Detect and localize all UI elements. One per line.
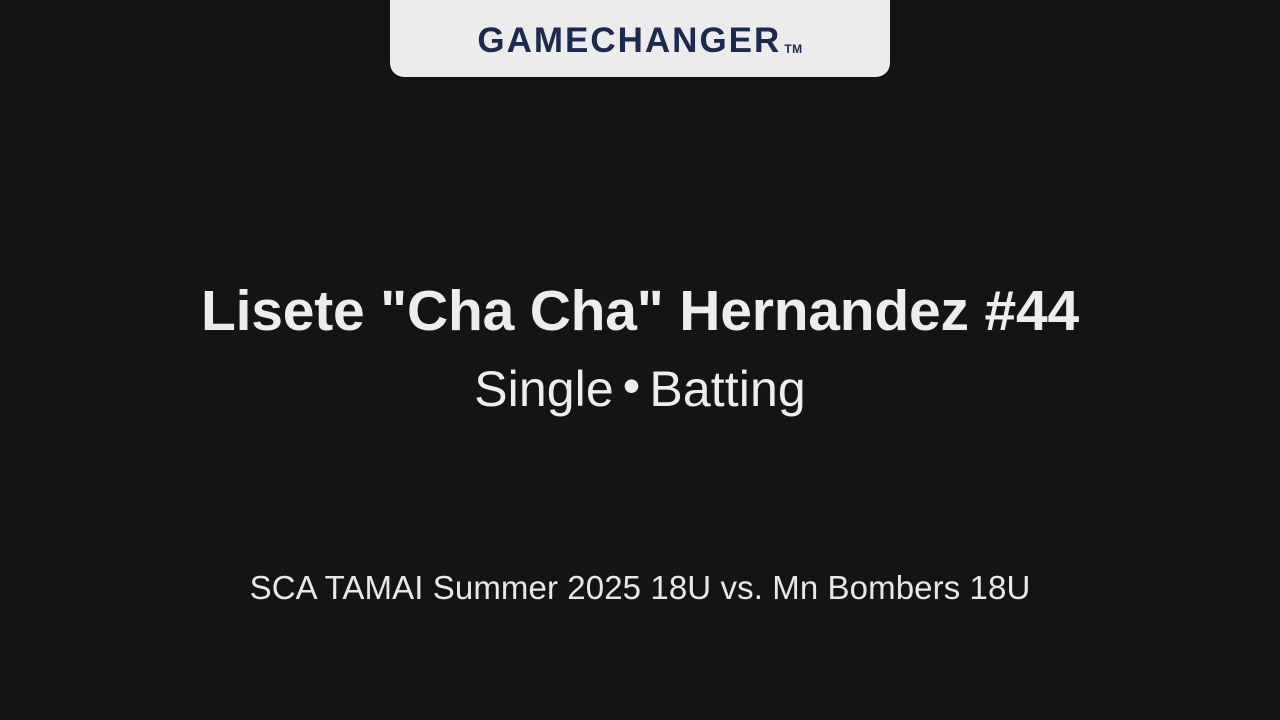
play-summary: Lisete "Cha Cha" Hernandez #44 Single•Ba…	[0, 278, 1280, 419]
trademark-icon: TM	[784, 43, 802, 55]
video-title-card: GAMECHANGER TM Lisete "Cha Cha" Hernande…	[0, 0, 1280, 720]
gamechanger-wordmark: GAMECHANGER	[477, 23, 781, 58]
play-type-label: Batting	[649, 361, 805, 417]
bullet-separator-icon: •	[623, 356, 641, 416]
game-matchup-caption: SCA TAMAI Summer 2025 18U vs. Mn Bombers…	[0, 568, 1280, 608]
gamechanger-logo: GAMECHANGER TM	[477, 23, 802, 58]
play-detail-line: Single•Batting	[0, 356, 1280, 419]
player-name-heading: Lisete "Cha Cha" Hernandez #44	[0, 278, 1280, 344]
play-result-label: Single	[474, 361, 614, 417]
gamechanger-brand-badge: GAMECHANGER TM	[390, 0, 890, 77]
